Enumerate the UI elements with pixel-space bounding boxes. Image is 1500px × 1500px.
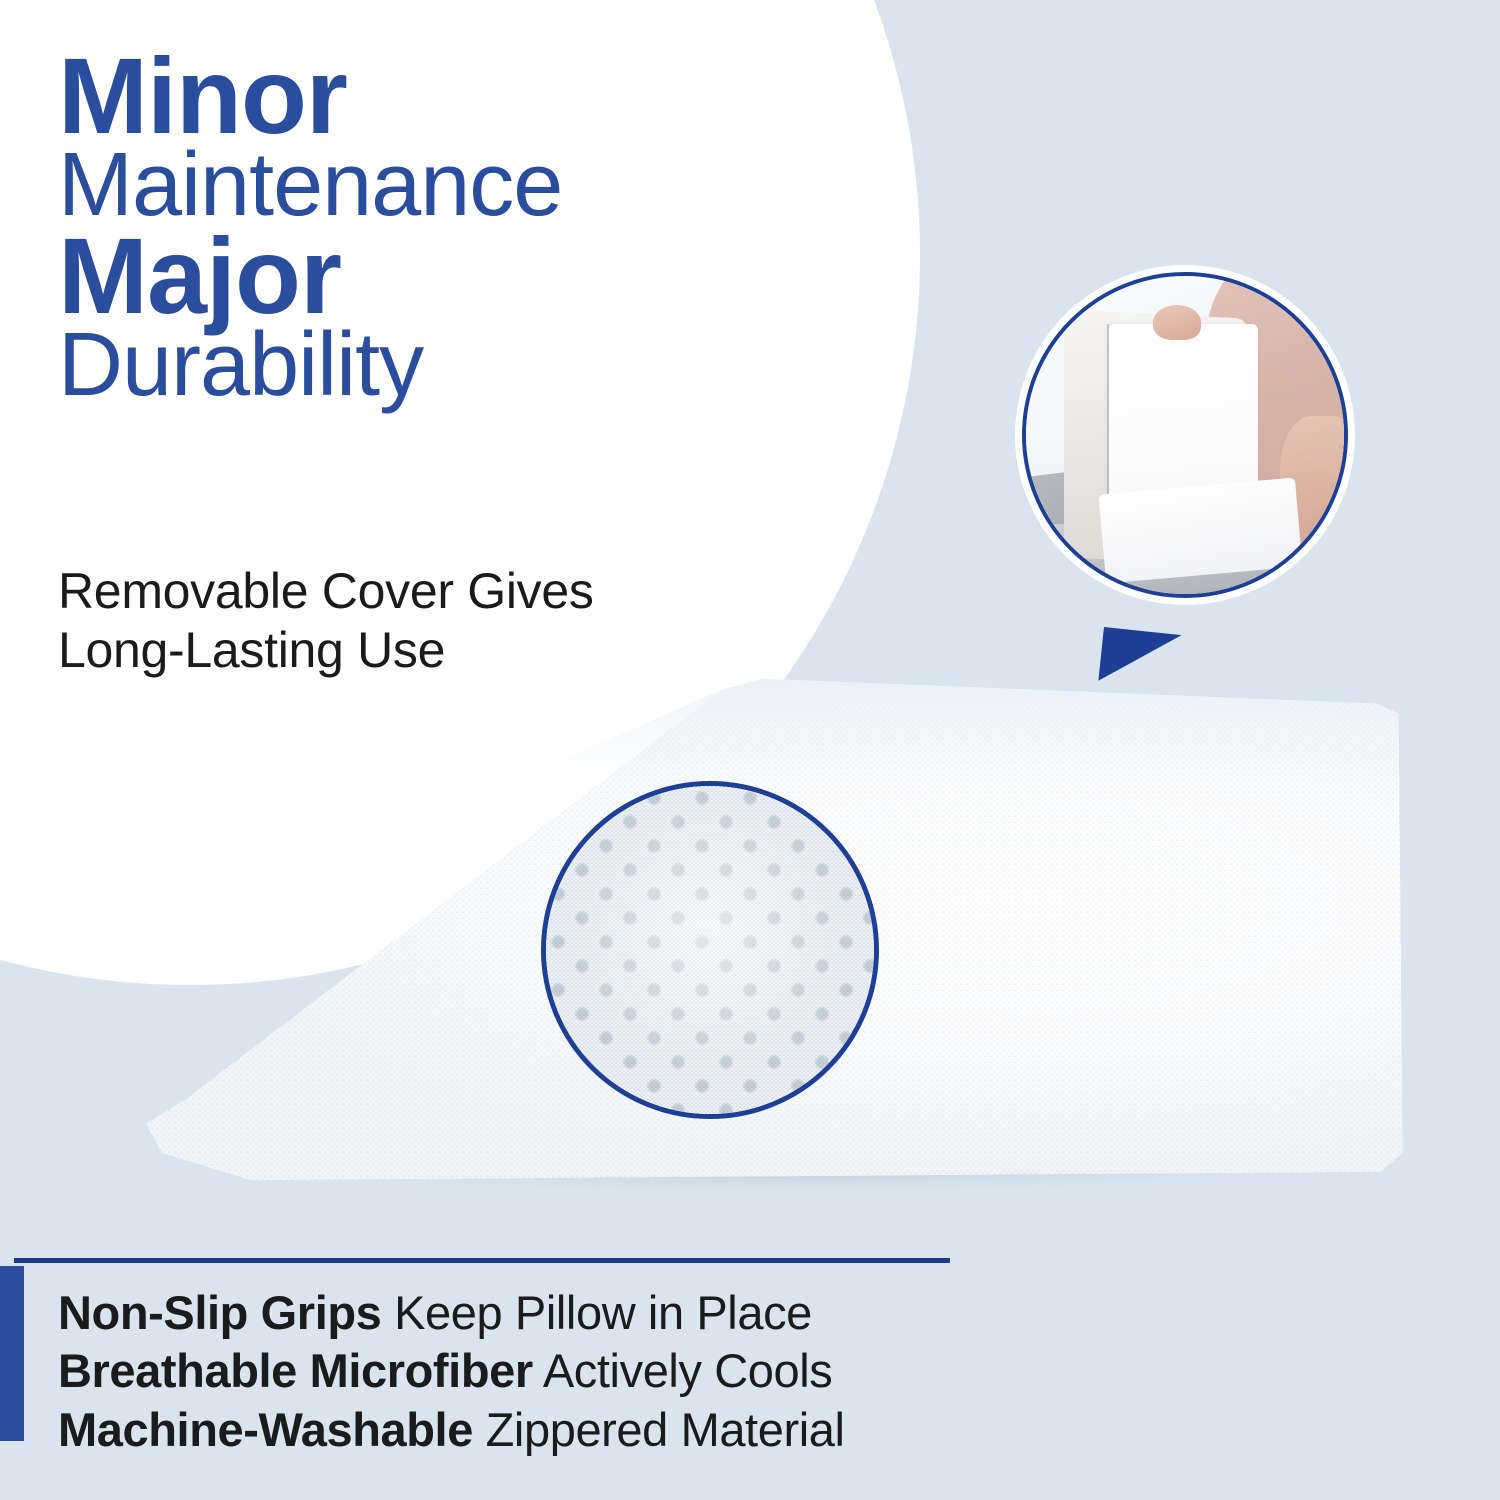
inset-photo-callout <box>1022 272 1348 598</box>
feature-list-block: Non-Slip Grips Keep Pillow in PlaceBreat… <box>0 1258 1500 1500</box>
fabric-closeup-circle <box>541 781 879 1119</box>
feature-accent-bar <box>0 1266 24 1441</box>
feature-item-bold: Non-Slip Grips <box>58 1286 381 1339</box>
feature-item-bold: Breathable Microfiber <box>58 1344 533 1397</box>
feature-item-rest: Keep Pillow in Place <box>381 1286 812 1339</box>
inset-circle-ring <box>1022 272 1348 598</box>
subheadline-line-1: Removable Cover Gives <box>58 562 818 621</box>
feature-item-bold: Machine-Washable <box>58 1403 473 1456</box>
feature-list: Non-Slip Grips Keep Pillow in PlaceBreat… <box>58 1284 1438 1459</box>
feature-item: Non-Slip Grips Keep Pillow in Place <box>58 1284 1438 1342</box>
feature-divider-rule <box>14 1258 950 1263</box>
person-hand <box>1153 305 1201 340</box>
subheadline-block: Removable Cover Gives Long-Lasting Use <box>58 562 818 680</box>
closeup-vignette <box>546 786 874 1114</box>
feature-item: Machine-Washable Zippered Material <box>58 1401 1438 1459</box>
feature-item: Breathable Microfiber Actively Cools <box>58 1342 1438 1400</box>
inset-pointer-triangle <box>1098 627 1181 689</box>
headline-line-1: Minor <box>58 44 878 148</box>
headline-line-4: Durability <box>58 322 878 408</box>
cover-flap <box>1099 477 1303 583</box>
feature-item-rest: Zippered Material <box>473 1403 845 1456</box>
feature-item-rest: Actively Cools <box>533 1344 833 1397</box>
product-infographic: Minor Maintenance Major Durability Remov… <box>0 0 1500 1500</box>
headline-block: Minor Maintenance Major Durability <box>58 44 878 408</box>
pillow-top-face-shading <box>120 665 1430 782</box>
headline-line-3: Major <box>58 224 878 328</box>
cover-removal-photo <box>1026 276 1344 594</box>
